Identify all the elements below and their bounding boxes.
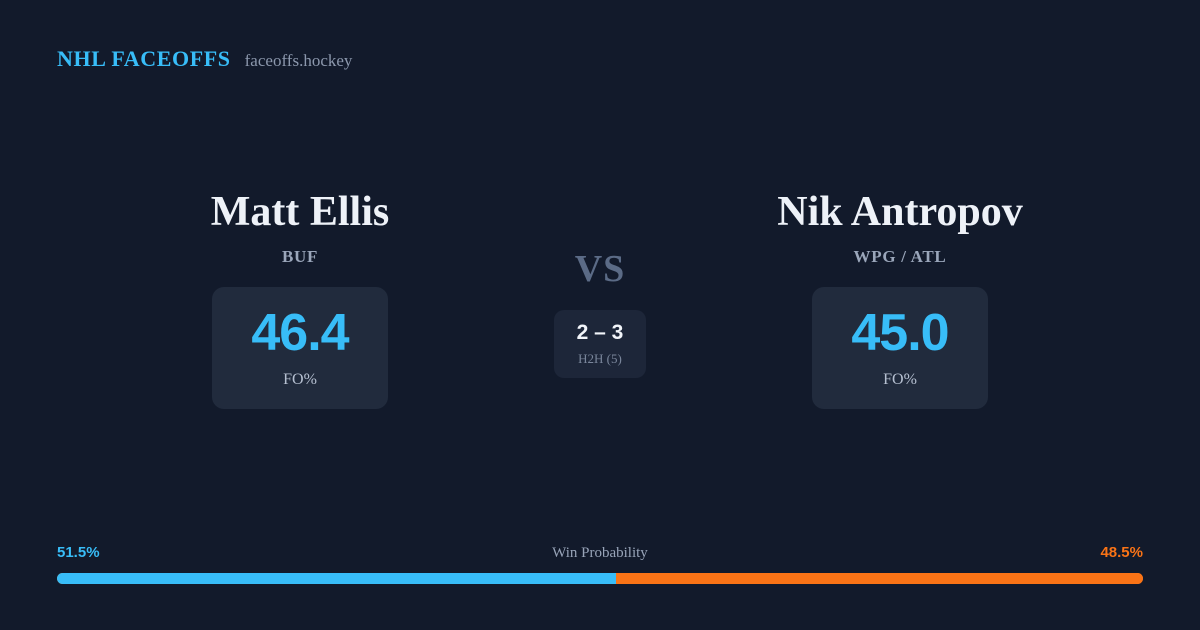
player-left-name: Matt Ellis (211, 190, 389, 235)
player-left-stat-card: 46.4 FO% (212, 287, 388, 409)
win-probability-labels: 51.5% Win Probability 48.5% (57, 544, 1143, 564)
win-probability-bar (57, 573, 1143, 584)
win-probability-bar-right (616, 573, 1143, 584)
player-left-faceoff-value: 46.4 (251, 307, 348, 359)
win-probability-section: 51.5% Win Probability 48.5% (57, 544, 1143, 584)
win-probability-right-value: 48.5% (1100, 544, 1143, 561)
player-right-faceoff-value: 45.0 (851, 307, 948, 359)
player-right-team: WPG / ATL (854, 247, 947, 267)
player-left: Matt Ellis BUF 46.4 FO% (90, 190, 510, 409)
win-probability-title: Win Probability (57, 545, 1143, 562)
head-to-head-score: 2 – 3 (577, 322, 624, 343)
player-left-faceoff-label: FO% (283, 371, 317, 389)
matchup-row: Matt Ellis BUF 46.4 FO% VS 2 – 3 H2H (5)… (0, 190, 1200, 409)
win-probability-bar-left (57, 573, 616, 584)
site-domain: faceoffs.hockey (245, 51, 353, 71)
player-right-stat-card: 45.0 FO% (812, 287, 988, 409)
player-left-team: BUF (282, 247, 318, 267)
share-card: NHL FACEOFFS faceoffs.hockey Matt Ellis … (0, 0, 1200, 630)
player-right: Nik Antropov WPG / ATL 45.0 FO% (690, 190, 1110, 409)
head-to-head-label: H2H (5) (578, 351, 622, 367)
player-right-faceoff-label: FO% (883, 371, 917, 389)
header: NHL FACEOFFS faceoffs.hockey (57, 46, 352, 72)
brand-title: NHL FACEOFFS (57, 46, 231, 72)
player-right-name: Nik Antropov (777, 190, 1022, 235)
head-to-head-card: 2 – 3 H2H (5) (554, 310, 646, 378)
versus-column: VS 2 – 3 H2H (5) (510, 190, 690, 378)
versus-label: VS (575, 250, 626, 288)
